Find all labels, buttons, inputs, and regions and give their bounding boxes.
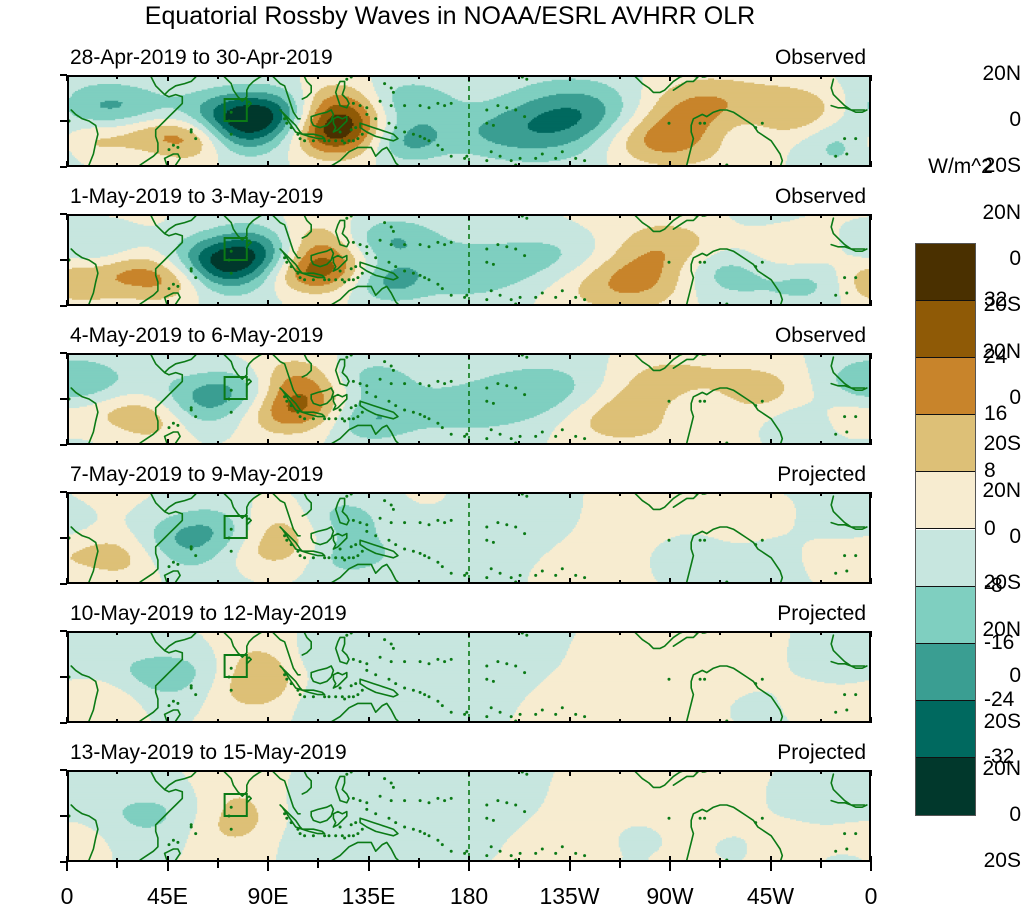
x-axis-tick xyxy=(418,719,420,723)
y-axis-label: 20N xyxy=(964,201,1021,225)
figure-root: Equatorial Rossby Waves in NOAA/ESRL AVH… xyxy=(0,0,1021,923)
x-axis-tick xyxy=(518,163,520,167)
x-axis-tick xyxy=(870,161,872,167)
x-axis-tick-outer xyxy=(870,862,872,871)
x-axis-tick xyxy=(368,214,370,220)
x-axis-label: 0 xyxy=(865,883,878,910)
x-axis-tick-outer xyxy=(267,862,269,871)
panel-status-label: Projected xyxy=(0,463,866,487)
x-axis-tick-outer xyxy=(619,862,621,868)
olr-anomaly-field xyxy=(69,494,869,582)
map-panel xyxy=(67,770,871,862)
x-axis-tick xyxy=(368,353,370,359)
colorbar-title: W/m^2 xyxy=(900,155,1021,179)
y-axis-tick xyxy=(60,398,67,400)
x-axis-tick xyxy=(217,214,219,218)
x-axis-tick xyxy=(66,161,68,167)
x-axis-tick xyxy=(770,214,772,220)
x-axis-tick xyxy=(468,492,470,498)
x-axis-tick xyxy=(770,300,772,306)
x-axis-tick xyxy=(569,717,571,723)
x-axis-tick xyxy=(116,631,118,635)
x-axis-tick xyxy=(770,161,772,167)
x-axis-tick xyxy=(317,353,319,357)
y-axis-tick xyxy=(60,259,67,261)
x-axis-tick xyxy=(669,300,671,306)
x-axis-tick xyxy=(66,353,68,359)
y-axis-tick xyxy=(60,537,67,539)
x-axis-tick xyxy=(167,717,169,723)
x-axis-tick xyxy=(820,302,822,306)
x-axis-tick xyxy=(116,492,118,496)
x-axis-tick xyxy=(870,353,872,359)
x-axis-tick xyxy=(569,770,571,776)
x-axis-labels: 045E90E135E180135W90W45W0 xyxy=(0,883,1021,915)
x-axis-tick xyxy=(468,578,470,584)
x-axis-tick xyxy=(267,770,269,776)
x-axis-tick xyxy=(619,353,621,357)
olr-anomaly-field xyxy=(69,633,869,721)
olr-anomaly-field xyxy=(69,77,869,165)
x-axis-tick xyxy=(619,75,621,79)
x-axis-tick xyxy=(116,302,118,306)
x-axis-tick xyxy=(719,770,721,774)
x-axis-tick xyxy=(719,163,721,167)
x-axis-tick xyxy=(770,631,772,637)
x-axis-tick xyxy=(116,214,118,218)
x-axis-tick xyxy=(518,353,520,357)
colorbar-band xyxy=(916,244,975,301)
x-axis-tick xyxy=(870,492,872,498)
x-axis-tick xyxy=(619,631,621,635)
x-axis-tick-outer xyxy=(468,862,470,871)
colorbar-tick-label: -8 xyxy=(984,574,1003,598)
x-axis-tick xyxy=(669,214,671,220)
x-axis-tick xyxy=(468,214,470,220)
x-axis-tick xyxy=(116,353,118,357)
x-axis-tick-outer xyxy=(770,862,772,871)
x-axis-tick xyxy=(267,161,269,167)
x-axis-tick xyxy=(569,75,571,81)
x-axis-tick xyxy=(820,75,822,79)
x-axis-tick xyxy=(368,161,370,167)
x-axis-tick xyxy=(368,492,370,498)
x-axis-tick xyxy=(719,353,721,357)
x-axis-tick xyxy=(418,163,420,167)
x-axis-tick xyxy=(317,75,319,79)
x-axis-tick xyxy=(770,578,772,584)
x-axis-label: 45W xyxy=(747,883,794,910)
x-axis-tick xyxy=(66,578,68,584)
colorbar-tick-label: -24 xyxy=(984,688,1014,712)
x-axis-tick xyxy=(719,75,721,79)
x-axis-tick xyxy=(820,441,822,445)
x-axis-label: 45E xyxy=(147,883,188,910)
x-axis-tick xyxy=(870,214,872,220)
x-axis-tick xyxy=(518,770,520,774)
x-axis-tick xyxy=(669,353,671,359)
x-axis-label: 0 xyxy=(61,883,74,910)
x-axis-tick xyxy=(468,717,470,723)
x-axis-tick xyxy=(418,353,420,357)
x-axis-tick xyxy=(820,214,822,218)
x-axis-tick xyxy=(870,717,872,723)
x-axis-tick xyxy=(267,75,269,81)
x-axis-tick xyxy=(167,492,169,498)
x-axis-tick xyxy=(518,302,520,306)
x-axis-tick xyxy=(317,631,319,635)
x-axis-tick-outer xyxy=(368,862,370,871)
x-axis-tick xyxy=(770,770,772,776)
x-axis-tick xyxy=(619,719,621,723)
olr-anomaly-field xyxy=(69,216,869,304)
x-axis-tick-outer xyxy=(820,862,822,868)
x-axis-tick xyxy=(267,717,269,723)
x-axis-tick xyxy=(317,163,319,167)
x-axis-tick-outer xyxy=(167,862,169,871)
x-axis-tick xyxy=(719,441,721,445)
x-axis-tick xyxy=(116,770,118,774)
y-axis-label: 20N xyxy=(964,62,1021,86)
x-axis-tick xyxy=(167,214,169,220)
x-axis-tick xyxy=(66,631,68,637)
y-axis-tick xyxy=(60,676,67,678)
x-axis-tick xyxy=(418,770,420,774)
panel-status-label: Projected xyxy=(0,741,866,765)
x-axis-tick xyxy=(719,580,721,584)
x-axis-tick xyxy=(468,353,470,359)
colorbar-band xyxy=(916,530,975,587)
colorbar-tick-label: -32 xyxy=(984,745,1014,769)
x-axis-tick xyxy=(116,580,118,584)
x-axis-tick xyxy=(669,717,671,723)
x-axis-tick xyxy=(66,300,68,306)
x-axis-tick xyxy=(770,75,772,81)
x-axis-tick xyxy=(518,631,520,635)
x-axis-tick xyxy=(267,353,269,359)
x-axis-tick xyxy=(217,75,219,79)
x-axis-tick xyxy=(518,441,520,445)
x-axis-tick xyxy=(518,719,520,723)
x-axis-tick xyxy=(418,580,420,584)
x-axis-tick xyxy=(569,578,571,584)
x-axis-tick xyxy=(870,75,872,81)
x-axis-tick xyxy=(569,353,571,359)
x-axis-tick xyxy=(167,631,169,637)
x-axis-tick xyxy=(116,719,118,723)
x-axis-tick xyxy=(820,492,822,496)
colorbar-band xyxy=(916,758,975,815)
x-axis-tick xyxy=(267,578,269,584)
x-axis-tick-outer xyxy=(418,862,420,868)
x-axis-tick xyxy=(368,770,370,776)
x-axis-tick xyxy=(317,770,319,774)
panel-status-label: Projected xyxy=(0,602,866,626)
y-axis-label: 0 xyxy=(964,108,1021,132)
x-axis-tick xyxy=(317,492,319,496)
x-axis-tick xyxy=(217,441,219,445)
x-axis-tick xyxy=(418,214,420,218)
x-axis-tick xyxy=(317,302,319,306)
colorbar-band xyxy=(916,358,975,415)
x-axis-tick xyxy=(368,300,370,306)
x-axis-tick xyxy=(820,580,822,584)
olr-anomaly-field xyxy=(69,355,869,443)
x-axis-tick xyxy=(669,161,671,167)
x-axis-tick xyxy=(368,578,370,584)
x-axis-tick xyxy=(669,439,671,445)
x-axis-label: 90W xyxy=(646,883,693,910)
x-axis-tick xyxy=(267,439,269,445)
x-axis-tick xyxy=(569,631,571,637)
x-axis-tick xyxy=(217,163,219,167)
chart-title: Equatorial Rossby Waves in NOAA/ESRL AVH… xyxy=(0,2,900,31)
x-axis-tick xyxy=(267,631,269,637)
x-axis-tick xyxy=(167,75,169,81)
x-axis-tick xyxy=(870,300,872,306)
x-axis-tick xyxy=(167,300,169,306)
map-panel xyxy=(67,353,871,445)
x-axis-tick xyxy=(66,214,68,220)
x-axis-tick xyxy=(719,302,721,306)
x-axis-tick xyxy=(770,492,772,498)
x-axis-tick xyxy=(468,300,470,306)
colorbar-tick-label: 32 xyxy=(984,288,1007,312)
map-panel xyxy=(67,631,871,723)
x-axis-tick xyxy=(468,75,470,81)
x-axis-tick xyxy=(569,300,571,306)
x-axis-tick-outer xyxy=(317,862,319,868)
x-axis-tick-outer xyxy=(116,862,118,868)
x-axis-tick xyxy=(619,492,621,496)
x-axis-tick xyxy=(619,580,621,584)
x-axis-tick xyxy=(66,492,68,498)
colorbar-band xyxy=(916,301,975,358)
colorbar-tick-label: -16 xyxy=(984,631,1014,655)
x-axis-tick xyxy=(317,719,319,723)
x-axis-tick xyxy=(619,302,621,306)
x-axis-tick xyxy=(870,631,872,637)
x-axis-tick xyxy=(619,163,621,167)
colorbar-tick-label: 8 xyxy=(984,459,996,483)
x-axis-tick xyxy=(870,770,872,776)
x-axis-label: 90E xyxy=(248,883,289,910)
x-axis-tick xyxy=(267,492,269,498)
colorbar-band xyxy=(916,587,975,644)
x-axis-tick xyxy=(167,439,169,445)
x-axis-tick xyxy=(317,214,319,218)
x-axis-tick xyxy=(66,770,68,776)
x-axis-tick xyxy=(619,214,621,218)
x-axis-tick xyxy=(518,580,520,584)
colorbar-tick-label: 24 xyxy=(984,345,1007,369)
x-axis-tick xyxy=(468,439,470,445)
x-axis-tick xyxy=(317,580,319,584)
x-axis-tick xyxy=(66,75,68,81)
x-axis-tick xyxy=(468,161,470,167)
x-axis-tick xyxy=(368,439,370,445)
colorbar-tick-label: 16 xyxy=(984,402,1007,426)
panel-status-label: Observed xyxy=(0,46,866,70)
map-panel xyxy=(67,75,871,167)
y-axis-tick xyxy=(60,120,67,122)
x-axis-tick xyxy=(619,770,621,774)
x-axis-tick xyxy=(820,719,822,723)
x-axis-tick xyxy=(267,300,269,306)
x-axis-tick xyxy=(719,719,721,723)
y-axis-label: 20S xyxy=(964,849,1021,873)
x-axis-tick xyxy=(518,214,520,218)
x-axis-tick-outer xyxy=(66,862,68,871)
x-axis-tick xyxy=(116,441,118,445)
y-axis-tick xyxy=(60,815,67,817)
x-axis-tick xyxy=(669,578,671,584)
x-axis-tick xyxy=(418,441,420,445)
x-axis-tick-outer xyxy=(669,862,671,871)
x-axis-tick xyxy=(217,719,219,723)
x-axis-tick xyxy=(217,492,219,496)
x-axis-tick xyxy=(468,631,470,637)
panel-status-label: Observed xyxy=(0,185,866,209)
x-axis-tick xyxy=(116,163,118,167)
map-panel xyxy=(67,492,871,584)
x-axis-label: 135E xyxy=(342,883,396,910)
x-axis-label: 180 xyxy=(450,883,488,910)
x-axis-tick xyxy=(820,353,822,357)
x-axis-tick xyxy=(217,580,219,584)
x-axis-tick xyxy=(669,75,671,81)
colorbar-tick-label: 0 xyxy=(984,517,996,541)
map-panel xyxy=(67,214,871,306)
x-axis-tick xyxy=(167,578,169,584)
x-axis-tick-outer xyxy=(217,862,219,868)
x-axis-tick xyxy=(267,214,269,220)
x-axis-tick xyxy=(820,631,822,635)
x-axis-tick xyxy=(719,492,721,496)
x-axis-tick xyxy=(418,302,420,306)
x-axis-tick xyxy=(569,492,571,498)
x-axis-tick xyxy=(518,492,520,496)
x-axis-tick-outer xyxy=(518,862,520,868)
x-axis-tick xyxy=(368,631,370,637)
x-axis-tick xyxy=(418,631,420,635)
x-axis-tick xyxy=(468,770,470,776)
x-axis-tick xyxy=(418,492,420,496)
x-axis-tick xyxy=(619,441,621,445)
x-axis-tick xyxy=(569,214,571,220)
colorbar-band xyxy=(916,701,975,758)
x-axis-tick xyxy=(368,717,370,723)
x-axis-tick xyxy=(870,439,872,445)
x-axis-tick xyxy=(770,439,772,445)
x-axis-tick xyxy=(317,441,319,445)
x-axis-tick xyxy=(669,492,671,498)
x-axis-tick xyxy=(820,770,822,774)
x-axis-tick xyxy=(167,161,169,167)
x-axis-tick xyxy=(770,353,772,359)
x-axis-tick xyxy=(418,75,420,79)
x-axis-tick xyxy=(217,353,219,357)
colorbar xyxy=(915,243,976,816)
colorbar-band xyxy=(916,472,975,529)
x-axis-tick xyxy=(518,75,520,79)
x-axis-tick xyxy=(217,302,219,306)
x-axis-tick xyxy=(217,631,219,635)
x-axis-tick xyxy=(167,353,169,359)
x-axis-tick xyxy=(820,163,822,167)
x-axis-tick xyxy=(669,770,671,776)
x-axis-tick xyxy=(719,631,721,635)
panel-status-label: Observed xyxy=(0,324,866,348)
x-axis-tick xyxy=(368,75,370,81)
x-axis-tick xyxy=(116,75,118,79)
x-axis-tick xyxy=(669,631,671,637)
x-axis-tick xyxy=(167,770,169,776)
colorbar-band xyxy=(916,644,975,701)
x-axis-tick xyxy=(569,439,571,445)
x-axis-tick xyxy=(870,578,872,584)
x-axis-tick xyxy=(66,717,68,723)
x-axis-tick xyxy=(569,161,571,167)
x-axis-label: 135W xyxy=(539,883,599,910)
x-axis-tick xyxy=(770,717,772,723)
colorbar-band xyxy=(916,415,975,472)
x-axis-tick xyxy=(66,439,68,445)
olr-anomaly-field xyxy=(69,772,869,860)
x-axis-tick-outer xyxy=(719,862,721,868)
x-axis-tick-outer xyxy=(569,862,571,871)
x-axis-tick xyxy=(217,770,219,774)
x-axis-tick xyxy=(719,214,721,218)
